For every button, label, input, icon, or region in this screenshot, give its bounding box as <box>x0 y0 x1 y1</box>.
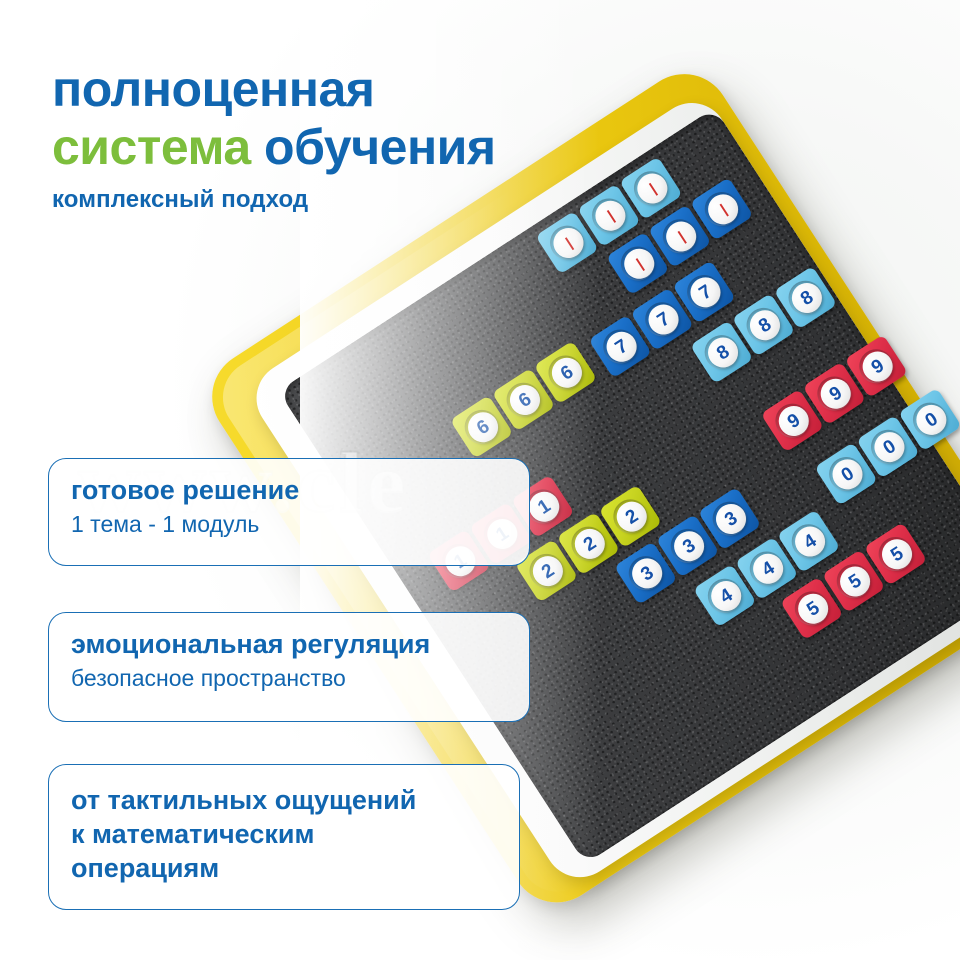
tile-bead: 6 <box>504 379 545 420</box>
number-tile: 6 <box>492 368 556 432</box>
feature-box-tactile-to-math: от тактильных ощущений к математическим … <box>48 764 520 910</box>
number-tile: 5 <box>864 522 928 586</box>
number-tile: 7 <box>630 287 694 351</box>
tile-bead: 6 <box>546 352 587 393</box>
number-tile: 2 <box>599 485 663 549</box>
tile-bead: | <box>702 189 743 230</box>
number-tile: | <box>648 204 712 268</box>
tile-row: 6 6 6 <box>450 341 597 459</box>
tile-bead: 4 <box>705 575 746 616</box>
tile-bead: 0 <box>827 454 868 495</box>
number-tile: 3 <box>614 541 678 605</box>
number-tile: 4 <box>693 564 757 628</box>
tile-bead: 3 <box>626 553 667 594</box>
feature-box-ready-solution: готовое решение 1 тема - 1 модуль <box>48 458 530 566</box>
number-tile: 6 <box>450 395 514 459</box>
tile-bead: 3 <box>710 498 751 539</box>
tile-bead: 7 <box>643 299 684 340</box>
headline-word-obucheniya: обучения <box>264 119 496 175</box>
tile-row: | | | <box>535 156 682 274</box>
tile-bead: 5 <box>834 561 875 602</box>
headline-subtitle: комплексный подход <box>52 186 496 214</box>
feature-title: готовое решение <box>71 473 507 507</box>
tile-bead: 7 <box>601 326 642 367</box>
poster-canvas: | | | | | | 6 6 6 7 7 7 <box>0 0 960 960</box>
tile-row: 3 3 3 <box>614 487 761 605</box>
number-tile: 9 <box>761 389 825 453</box>
tile-bead: 2 <box>527 550 568 591</box>
number-tile: 2 <box>557 512 621 576</box>
number-tile: 0 <box>814 442 878 506</box>
number-tile: 9 <box>803 362 867 426</box>
number-tile: 6 <box>534 341 598 405</box>
tile-bead: 5 <box>876 534 917 575</box>
number-tile: 7 <box>672 260 736 324</box>
tile-bead: 8 <box>702 332 743 373</box>
number-tile: | <box>690 177 754 241</box>
feature-subtitle: безопасное пространство <box>71 663 507 694</box>
number-tile: 5 <box>822 549 886 613</box>
number-tile: 9 <box>844 334 908 398</box>
feature-title: эмоциональная регуляция <box>71 627 507 661</box>
number-tile: 3 <box>698 487 762 551</box>
tile-bead: 0 <box>911 399 952 440</box>
number-tile: 0 <box>898 388 960 452</box>
feature-subtitle: 1 тема - 1 модуль <box>71 509 507 540</box>
tile-bead: 8 <box>744 304 785 345</box>
feature-box-emotional-regulation: эмоциональная регуляция безопасное прост… <box>48 612 530 722</box>
tile-bead: 9 <box>857 346 898 387</box>
headline-line-1: полноценная <box>52 62 496 116</box>
number-tile: | <box>606 232 670 296</box>
tile-bead: 6 <box>462 406 503 447</box>
tile-row: 8 8 8 <box>690 266 837 384</box>
tile-row: 2 2 2 <box>515 485 662 603</box>
number-tile: | <box>577 184 641 248</box>
tile-row: | | | <box>606 177 753 295</box>
tile-row: 7 7 7 <box>588 260 735 378</box>
tile-bead: | <box>660 216 701 257</box>
number-tile: 3 <box>656 514 720 578</box>
number-tile: | <box>535 211 599 275</box>
tile-bead: | <box>618 243 659 284</box>
number-tile: 7 <box>588 315 652 379</box>
number-tile: 4 <box>777 509 841 573</box>
headline-line-2: система обучения <box>52 120 496 174</box>
tile-bead: 4 <box>747 548 788 589</box>
tile-bead: 8 <box>786 277 827 318</box>
number-tile: 4 <box>735 537 799 601</box>
tile-bead: | <box>590 195 631 236</box>
tile-bead: 0 <box>869 426 910 467</box>
number-tile: 8 <box>732 293 796 357</box>
tile-bead: 2 <box>611 496 652 537</box>
tile-bead: 4 <box>789 521 830 562</box>
number-tile: | <box>619 156 683 220</box>
number-tile: 0 <box>856 415 920 479</box>
tile-row: 5 5 5 <box>780 522 927 640</box>
tile-row: 4 4 4 <box>693 509 840 627</box>
tile-bead: 9 <box>773 400 814 441</box>
headline-word-sistema: система <box>52 119 251 175</box>
feature-title: от тактильных ощущений к математическим … <box>71 783 497 885</box>
tile-bead: 2 <box>569 523 610 564</box>
tile-bead: 7 <box>685 272 726 313</box>
tile-bead: 9 <box>815 373 856 414</box>
headline-block: полноценная система обучения комплексный… <box>52 62 496 214</box>
tile-bead: 5 <box>792 588 833 629</box>
number-tile: 5 <box>780 577 844 641</box>
tile-bead: | <box>632 168 673 209</box>
number-tile: 8 <box>774 266 838 330</box>
tile-row: 9 9 9 <box>761 334 908 452</box>
tile-bead: | <box>548 222 589 263</box>
tile-row: 0 0 0 <box>814 388 960 506</box>
number-tile: 8 <box>690 320 754 384</box>
tile-bead: 3 <box>668 525 709 566</box>
